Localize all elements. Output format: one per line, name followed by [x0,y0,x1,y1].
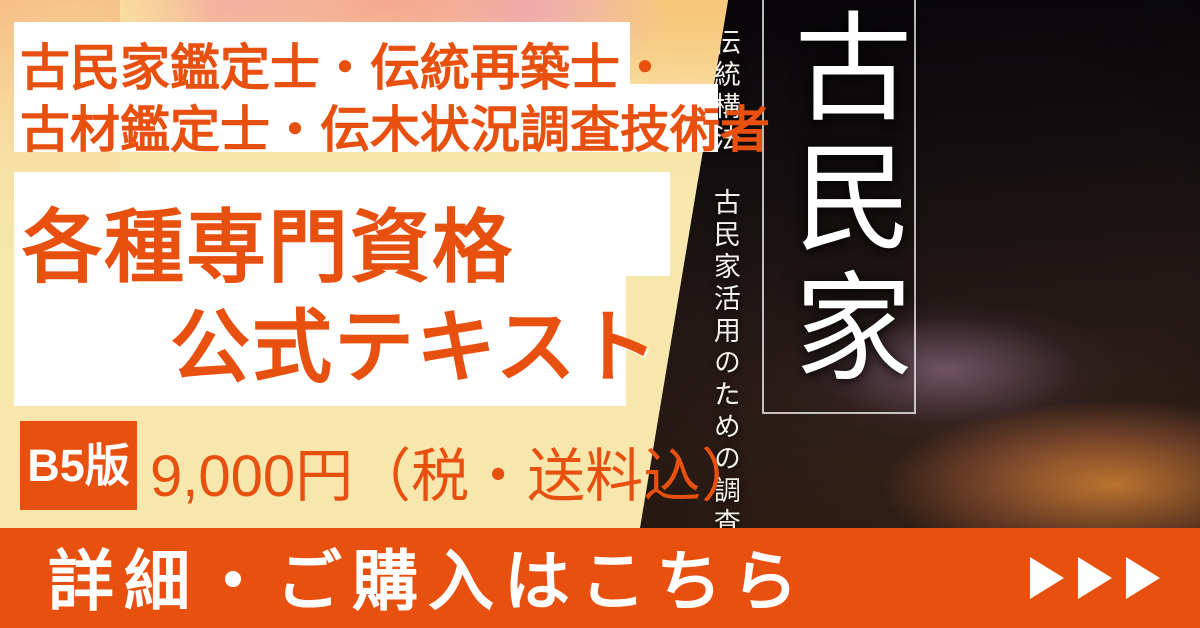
format-badge: B5版 [20,421,137,510]
cover-title-vertical: 古民家 [772,6,909,396]
subhead-line-1: 各種専門資格 [22,183,514,299]
play-arrow-icon [1078,557,1112,599]
format-badge-label: B5版 [27,443,130,488]
play-arrow-icon [1030,557,1064,599]
play-arrow-icon [1126,557,1160,599]
promo-banner: 古民家 伝統構法 古民家活用のための調査と再生 古民家鑑定士・伝統再築士・ 古材… [0,0,1200,628]
cta-label: 詳細・ご購入はこちら [48,528,808,624]
subhead-line-2: 公式テキスト [170,283,660,399]
price-text: 9,000円（税・送料込） [150,429,759,513]
cta-bar[interactable]: 詳細・ご購入はこちら [0,528,1200,628]
cta-arrows [1030,557,1160,599]
headline-line-2: 古材鑑定士・伝木状況調査技術者 [20,90,770,162]
